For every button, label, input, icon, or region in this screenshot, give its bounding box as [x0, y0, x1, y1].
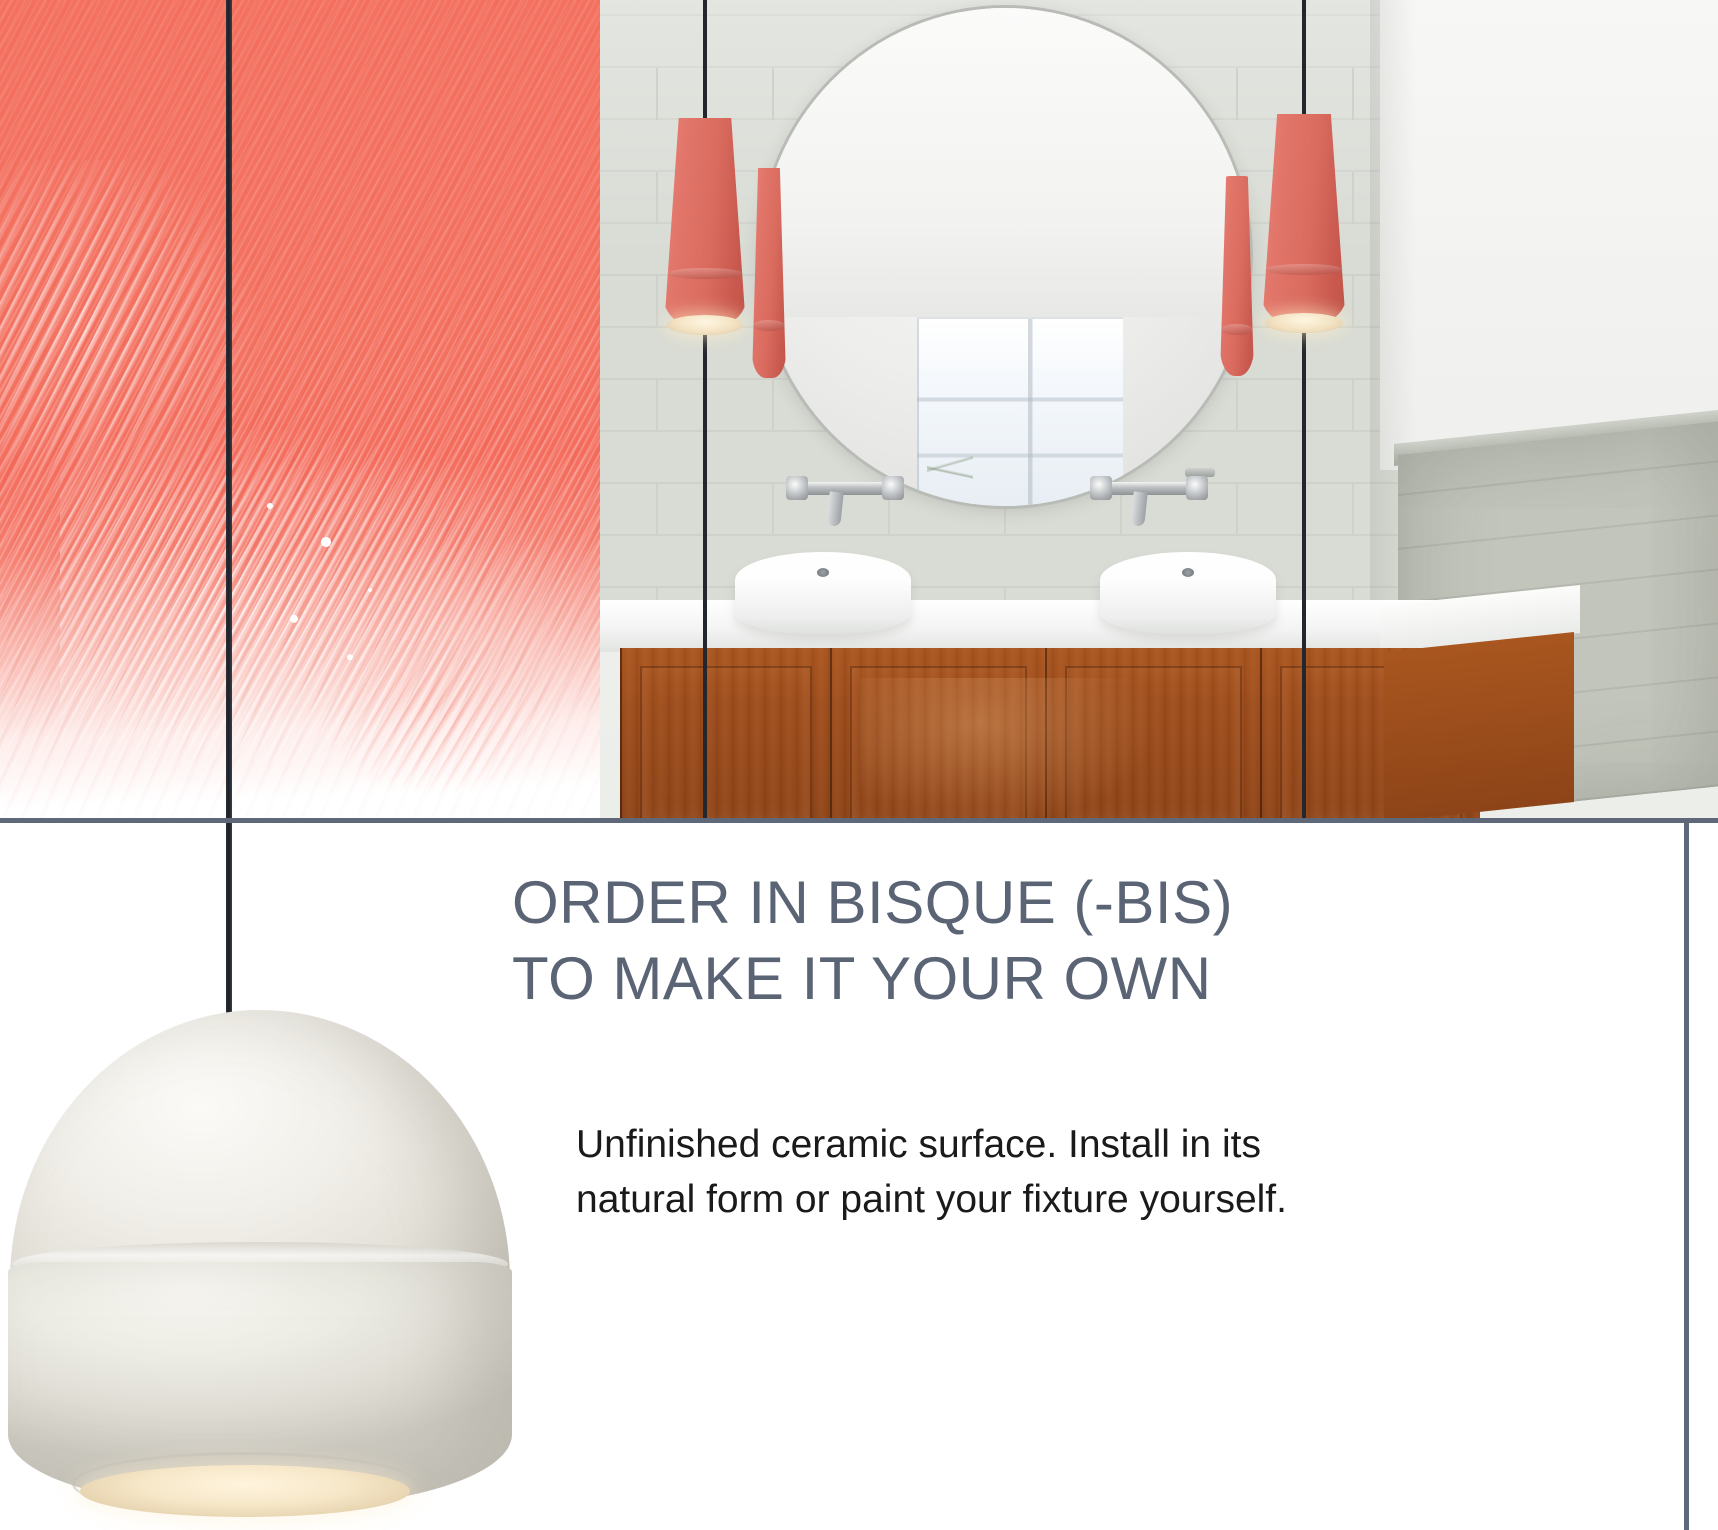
- text-column: ORDER IN BISQUE (-BIS) TO MAKE IT YOUR O…: [512, 865, 1652, 1016]
- pendant-light-diffuser: [80, 1465, 410, 1517]
- vessel-sink-right: [1100, 552, 1276, 634]
- upper-white-wall: [1380, 0, 1718, 470]
- vessel-sink-left: [735, 552, 911, 634]
- faucet-handle-left: [1090, 476, 1112, 500]
- wall-mount-faucet-right: [1090, 476, 1208, 518]
- faucet-handle-right: [1186, 476, 1208, 500]
- pendant-cord: [226, 820, 232, 1035]
- vertical-border-rule: [1684, 818, 1689, 1530]
- coral-pendant-reflection-right: [1220, 176, 1254, 376]
- pendant-shade: [1262, 114, 1346, 326]
- vanity-countertop: [600, 600, 1480, 652]
- vanity-highlight: [860, 678, 1160, 820]
- page-subcopy: Unfinished ceramic surface. Install in i…: [576, 1118, 1536, 1227]
- vanity-door-panel: [640, 666, 812, 820]
- marketing-slide: ORDER IN BISQUE (-BIS) TO MAKE IT YOUR O…: [0, 0, 1718, 1530]
- bisque-dome-pendant: [0, 1010, 540, 1530]
- pendant-shade: [1220, 176, 1254, 376]
- mirror-plant-reflection: [927, 436, 973, 506]
- wall-mount-faucet-left: [786, 476, 904, 518]
- faucet-handle-left: [786, 476, 808, 500]
- page-headline: ORDER IN BISQUE (-BIS) TO MAKE IT YOUR O…: [512, 865, 1652, 1016]
- pendant-ridge: [1265, 264, 1342, 275]
- wood-vanity-side: [1384, 632, 1574, 820]
- paint-speckle: [300, 640, 580, 810]
- pendant-ridge: [753, 320, 784, 331]
- coral-pendant-lamp-right: [1262, 114, 1346, 326]
- pendant-ridge: [1221, 324, 1252, 335]
- pendant-light-glow: [667, 315, 742, 335]
- pendant-light-glow: [1265, 313, 1342, 333]
- pendant-ridge: [667, 268, 742, 279]
- coral-pendant-lamp-left: [664, 118, 746, 328]
- horizontal-divider-rule: [0, 818, 1718, 823]
- round-mirror: [760, 8, 1250, 506]
- pendant-shade: [664, 118, 746, 328]
- wood-vanity-cabinet: [620, 648, 1480, 820]
- vanity-door: [620, 648, 830, 820]
- faucet-handle-right: [882, 476, 904, 500]
- bathroom-interior-photo: [600, 0, 1718, 820]
- coral-pendant-reflection-left: [752, 168, 786, 378]
- mirror-ceiling-reflection: [760, 8, 1250, 317]
- coral-paint-swatch: [0, 0, 600, 820]
- top-image-band: [0, 0, 1718, 820]
- pendant-shade: [752, 168, 786, 378]
